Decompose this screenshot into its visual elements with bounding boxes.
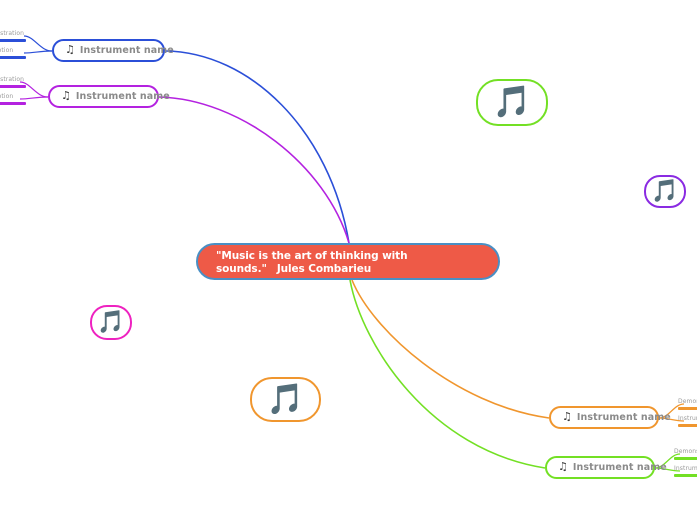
note-bubble-purple[interactable]: 🎵	[644, 175, 686, 208]
leaf-node-orange-demonstration[interactable]: Demonstration	[678, 398, 697, 410]
branch-node-green[interactable]: ♫ Instrument name	[545, 456, 655, 479]
branch-label: Instrument name	[76, 91, 170, 102]
note-bubble-orange[interactable]: 🎵	[250, 377, 321, 422]
leaf-label: Demonstration	[678, 398, 697, 406]
leaf-underline	[674, 474, 697, 477]
music-notes-icon: ♫	[61, 90, 71, 101]
leaf-label: Instrument	[674, 465, 697, 473]
branch-label: Instrument name	[577, 412, 671, 423]
branch-node-purple[interactable]: ♫ Instrument name	[48, 85, 159, 108]
note-bubble-pink[interactable]: 🎵	[90, 305, 132, 340]
note-bubble-green[interactable]: 🎵	[476, 79, 548, 126]
leaf-underline	[0, 39, 26, 42]
leaf-label: Demonstration	[0, 30, 26, 38]
branch-node-orange[interactable]: ♫ Instrument name	[549, 406, 659, 429]
branch-node-blue[interactable]: ♫ Instrument name	[52, 39, 165, 62]
leaf-label: Description	[0, 47, 26, 55]
leaf-underline	[674, 457, 697, 460]
branch-label: Instrument name	[573, 462, 667, 473]
root-node[interactable]: "Music is the art of thinking with sound…	[196, 243, 500, 280]
music-note-icon: 🎵	[651, 181, 678, 203]
music-notes-icon: ♫	[562, 411, 572, 422]
leaf-label: Demonstration	[0, 76, 26, 84]
leaf-underline	[0, 85, 26, 88]
music-notes-icon: ♫	[558, 461, 568, 472]
music-notes-icon: ♫	[65, 44, 75, 55]
leaf-underline	[0, 102, 26, 105]
leaf-underline	[678, 407, 697, 410]
music-note-icon: 🎵	[267, 385, 304, 415]
root-author: Jules Combarieu	[267, 263, 371, 275]
leaf-underline	[0, 56, 26, 59]
music-note-icon: 🎵	[493, 87, 532, 118]
mindmap-canvas: "Music is the art of thinking with sound…	[0, 0, 697, 520]
leaf-node-blue-description[interactable]: Description	[0, 47, 26, 59]
leaf-label: Instrument	[678, 415, 697, 423]
leaf-node-green-demonstration[interactable]: Demonstration	[674, 448, 697, 460]
leaf-underline	[678, 424, 697, 427]
leaf-node-green-instrument[interactable]: Instrument	[674, 465, 697, 477]
leaf-node-purple-description[interactable]: Description	[0, 93, 26, 105]
leaf-node-purple-demonstration[interactable]: Demonstration	[0, 76, 26, 88]
leaf-label: Demonstration	[674, 448, 697, 456]
leaf-node-orange-instrument[interactable]: Instrument	[678, 415, 697, 427]
leaf-label: Description	[0, 93, 26, 101]
leaf-node-blue-demonstration[interactable]: Demonstration	[0, 30, 26, 42]
branch-label: Instrument name	[80, 45, 174, 56]
music-note-icon: 🎵	[97, 312, 124, 334]
